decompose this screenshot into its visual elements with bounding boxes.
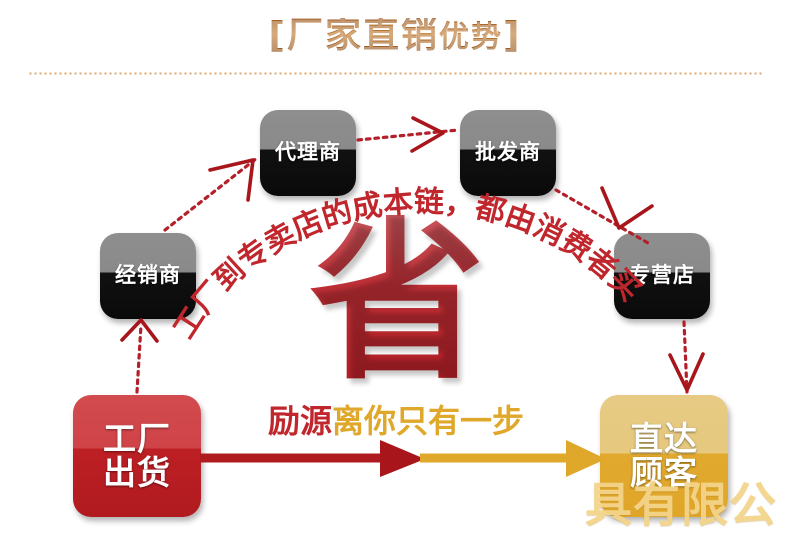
arc-text-layer: 工厂到专卖店的成本链，都由消费者买单。 bbox=[0, 0, 790, 539]
infographic-canvas: [厂家直销优势] 省 代理商 批发商 经销商 专营店 工厂 出货 直达 顾客 具… bbox=[0, 0, 790, 539]
slogan-brand: 励源 bbox=[268, 402, 332, 440]
bottom-slogan: 励源离你只有一步 bbox=[268, 405, 524, 437]
slogan-rest: 离你只有一步 bbox=[332, 402, 524, 440]
arc-description-text: 工厂到专卖店的成本链，都由消费者买单。 bbox=[0, 0, 647, 345]
